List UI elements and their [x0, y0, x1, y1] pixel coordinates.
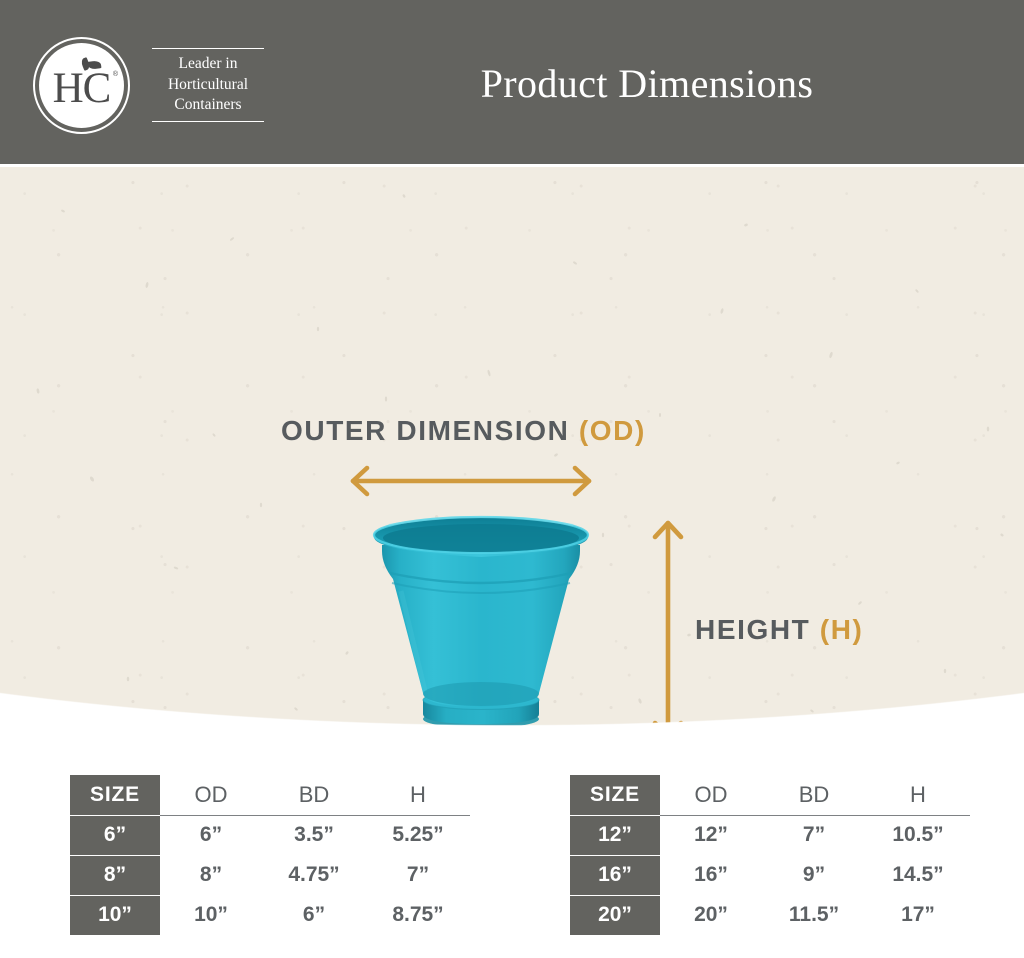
cell-od: 16” — [660, 855, 762, 895]
cell-size: 10” — [70, 895, 160, 935]
column-header-size: SIZE — [70, 775, 160, 815]
column-header-h: H — [866, 775, 970, 815]
table-row: 6” 6” 3.5” 5.25” — [70, 815, 470, 855]
product-dimensions-infographic: HC ® Leader in Horticultural Containers … — [0, 0, 1024, 958]
cell-h: 7” — [366, 855, 470, 895]
column-header-bd: BD — [762, 775, 866, 815]
table-row: 8” 8” 4.75” 7” — [70, 855, 470, 895]
table-header-row: SIZE OD BD H — [70, 775, 470, 815]
cell-od: 10” — [160, 895, 262, 935]
cell-h: 17” — [866, 895, 970, 935]
planter-pot-image — [349, 507, 613, 742]
cell-od: 20” — [660, 895, 762, 935]
cell-od: 12” — [660, 815, 762, 855]
cell-h: 5.25” — [366, 815, 470, 855]
cell-od: 6” — [160, 815, 262, 855]
diagram-panel: OUTER DIMENSION (OD) — [0, 167, 1024, 728]
table-header-row: SIZE OD BD H — [570, 775, 970, 815]
outer-dimension-name: OUTER DIMENSION — [281, 415, 569, 446]
cell-size: 16” — [570, 855, 660, 895]
cell-bd: 6” — [262, 895, 366, 935]
outer-dimension-code: (OD) — [579, 415, 646, 446]
cell-bd: 9” — [762, 855, 866, 895]
cell-bd: 11.5” — [762, 895, 866, 935]
column-header-od: OD — [160, 775, 262, 815]
table-row: 10” 10” 6” 8.75” — [70, 895, 470, 935]
column-header-size: SIZE — [570, 775, 660, 815]
column-header-od: OD — [660, 775, 762, 815]
cell-size: 8” — [70, 855, 160, 895]
cell-od: 8” — [160, 855, 262, 895]
column-header-h: H — [366, 775, 470, 815]
height-name: HEIGHT — [695, 614, 810, 645]
table-row: 12” 12” 7” 10.5” — [570, 815, 970, 855]
cell-size: 20” — [570, 895, 660, 935]
table-row: 20” 20” 11.5” 17” — [570, 895, 970, 935]
cell-h: 8.75” — [366, 895, 470, 935]
cell-bd: 4.75” — [262, 855, 366, 895]
height-label: HEIGHT (H) — [695, 614, 863, 646]
dimensions-table-large-sizes: SIZE OD BD H 12” 12” 7” 10.5” 16” 16” 9” — [570, 775, 970, 935]
header-bar: HC ® Leader in Horticultural Containers … — [0, 0, 1024, 166]
cell-size: 6” — [70, 815, 160, 855]
table-row: 16” 16” 9” 14.5” — [570, 855, 970, 895]
column-header-bd: BD — [262, 775, 366, 815]
cell-bd: 7” — [762, 815, 866, 855]
cell-size: 12” — [570, 815, 660, 855]
height-code: (H) — [820, 614, 864, 645]
outer-dimension-label: OUTER DIMENSION (OD) — [281, 415, 646, 447]
cell-bd: 3.5” — [262, 815, 366, 855]
cell-h: 10.5” — [866, 815, 970, 855]
page-title: Product Dimensions — [0, 0, 1024, 166]
outer-dimension-arrow-icon — [345, 463, 597, 499]
height-arrow-icon — [650, 515, 686, 745]
dimensions-table-small-sizes: SIZE OD BD H 6” 6” 3.5” 5.25” 8” 8” 4.75… — [70, 775, 470, 935]
cell-h: 14.5” — [866, 855, 970, 895]
